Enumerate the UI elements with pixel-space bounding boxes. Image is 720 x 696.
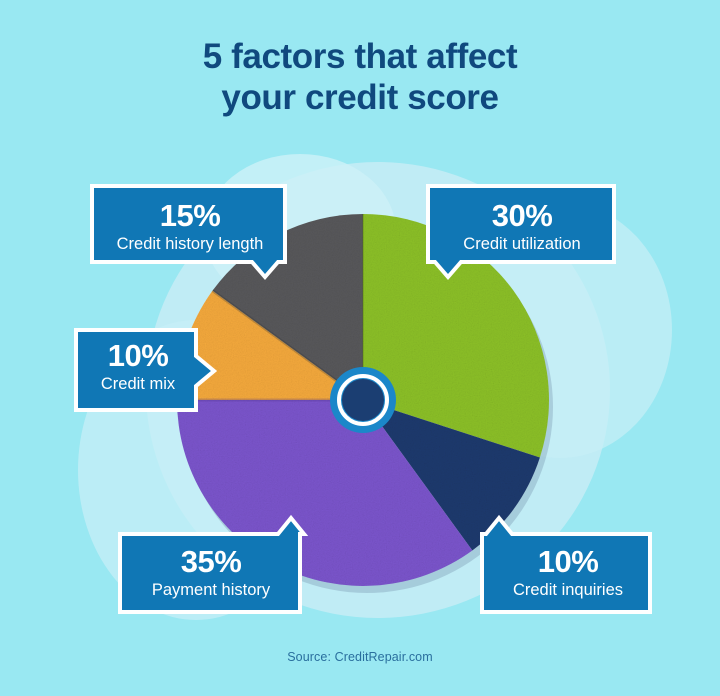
callout-percent-credit-utilization: 30% xyxy=(437,200,607,231)
callout-label-credit-history-length: Credit history length xyxy=(100,236,280,253)
callout-label-payment-history: Payment history xyxy=(128,582,294,599)
source-attribution: Source: CreditRepair.com xyxy=(0,650,720,664)
callout-percent-payment-history: 35% xyxy=(128,546,294,577)
callout-label-credit-inquiries: Credit inquiries xyxy=(492,582,644,599)
callout-credit-mix[interactable]: 10% Credit mix xyxy=(82,340,194,393)
callout-percent-credit-history-length: 15% xyxy=(100,200,280,231)
callout-percent-credit-inquiries: 10% xyxy=(492,546,644,577)
callout-percent-credit-mix: 10% xyxy=(82,340,194,371)
callout-label-credit-mix: Credit mix xyxy=(82,376,194,393)
callout-credit-utilization[interactable]: 30% Credit utilization xyxy=(437,200,607,253)
callout-label-credit-utilization: Credit utilization xyxy=(437,236,607,253)
callout-payment-history[interactable]: 35% Payment history xyxy=(128,546,294,599)
callout-credit-history-length[interactable]: 15% Credit history length xyxy=(100,200,280,253)
pie-center-hub xyxy=(330,367,396,433)
callout-credit-inquiries[interactable]: 10% Credit inquiries xyxy=(492,546,644,599)
